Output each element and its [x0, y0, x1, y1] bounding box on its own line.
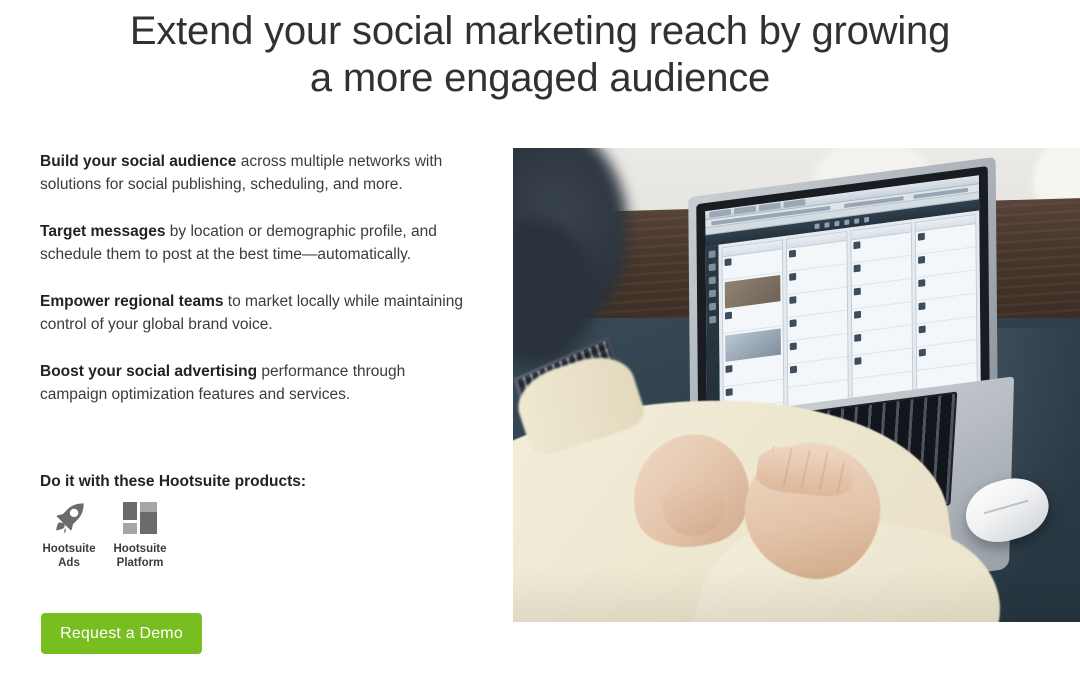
screen-stream-column	[915, 214, 978, 394]
products-heading: Do it with these Hootsuite products:	[40, 473, 306, 491]
product-label-line-2: Platform	[117, 557, 164, 569]
product-label-line-1: Hootsuite	[42, 543, 95, 555]
product-label-line-1: Hootsuite	[113, 543, 166, 555]
grid-dashboard-icon	[108, 497, 172, 539]
product-label: Hootsuite Ads	[40, 542, 98, 570]
product-label-line-2: Ads	[58, 557, 80, 569]
product-item-hootsuite-ads[interactable]: Hootsuite Ads	[40, 497, 98, 570]
landing-page-section: Extend your social marketing reach by gr…	[0, 0, 1080, 675]
benefit-paragraph: Target messages by location or demograph…	[40, 220, 472, 266]
page-title-line-1: Extend your social marketing reach by gr…	[130, 9, 950, 53]
rocket-icon	[40, 497, 98, 539]
screen-stream-column	[850, 222, 913, 402]
page-title-line-2: a more engaged audience	[0, 55, 1080, 102]
benefit-paragraph: Build your social audience across multip…	[40, 150, 472, 196]
product-label: Hootsuite Platform	[108, 542, 172, 570]
request-demo-button[interactable]: Request a Demo	[41, 613, 202, 654]
benefit-lead: Target messages	[40, 223, 166, 240]
benefits-list: Build your social audience across multip…	[40, 150, 472, 430]
page-title: Extend your social marketing reach by gr…	[0, 8, 1080, 102]
benefit-paragraph: Boost your social advertising performanc…	[40, 360, 472, 406]
benefit-lead: Boost your social advertising	[40, 363, 257, 380]
screen-stream-column	[721, 239, 784, 419]
photo-bottom-shadow	[513, 568, 1080, 622]
benefit-lead: Empower regional teams	[40, 293, 223, 310]
hero-photo	[513, 148, 1080, 622]
product-icon-list: Hootsuite Ads Hootsuite Platform	[40, 497, 172, 570]
product-item-hootsuite-platform[interactable]: Hootsuite Platform	[108, 497, 172, 570]
screen-stream-column	[786, 231, 849, 411]
benefit-lead: Build your social audience	[40, 153, 236, 170]
photo-right-hand-finger-lines	[769, 446, 845, 491]
benefit-paragraph: Empower regional teams to market locally…	[40, 290, 472, 336]
